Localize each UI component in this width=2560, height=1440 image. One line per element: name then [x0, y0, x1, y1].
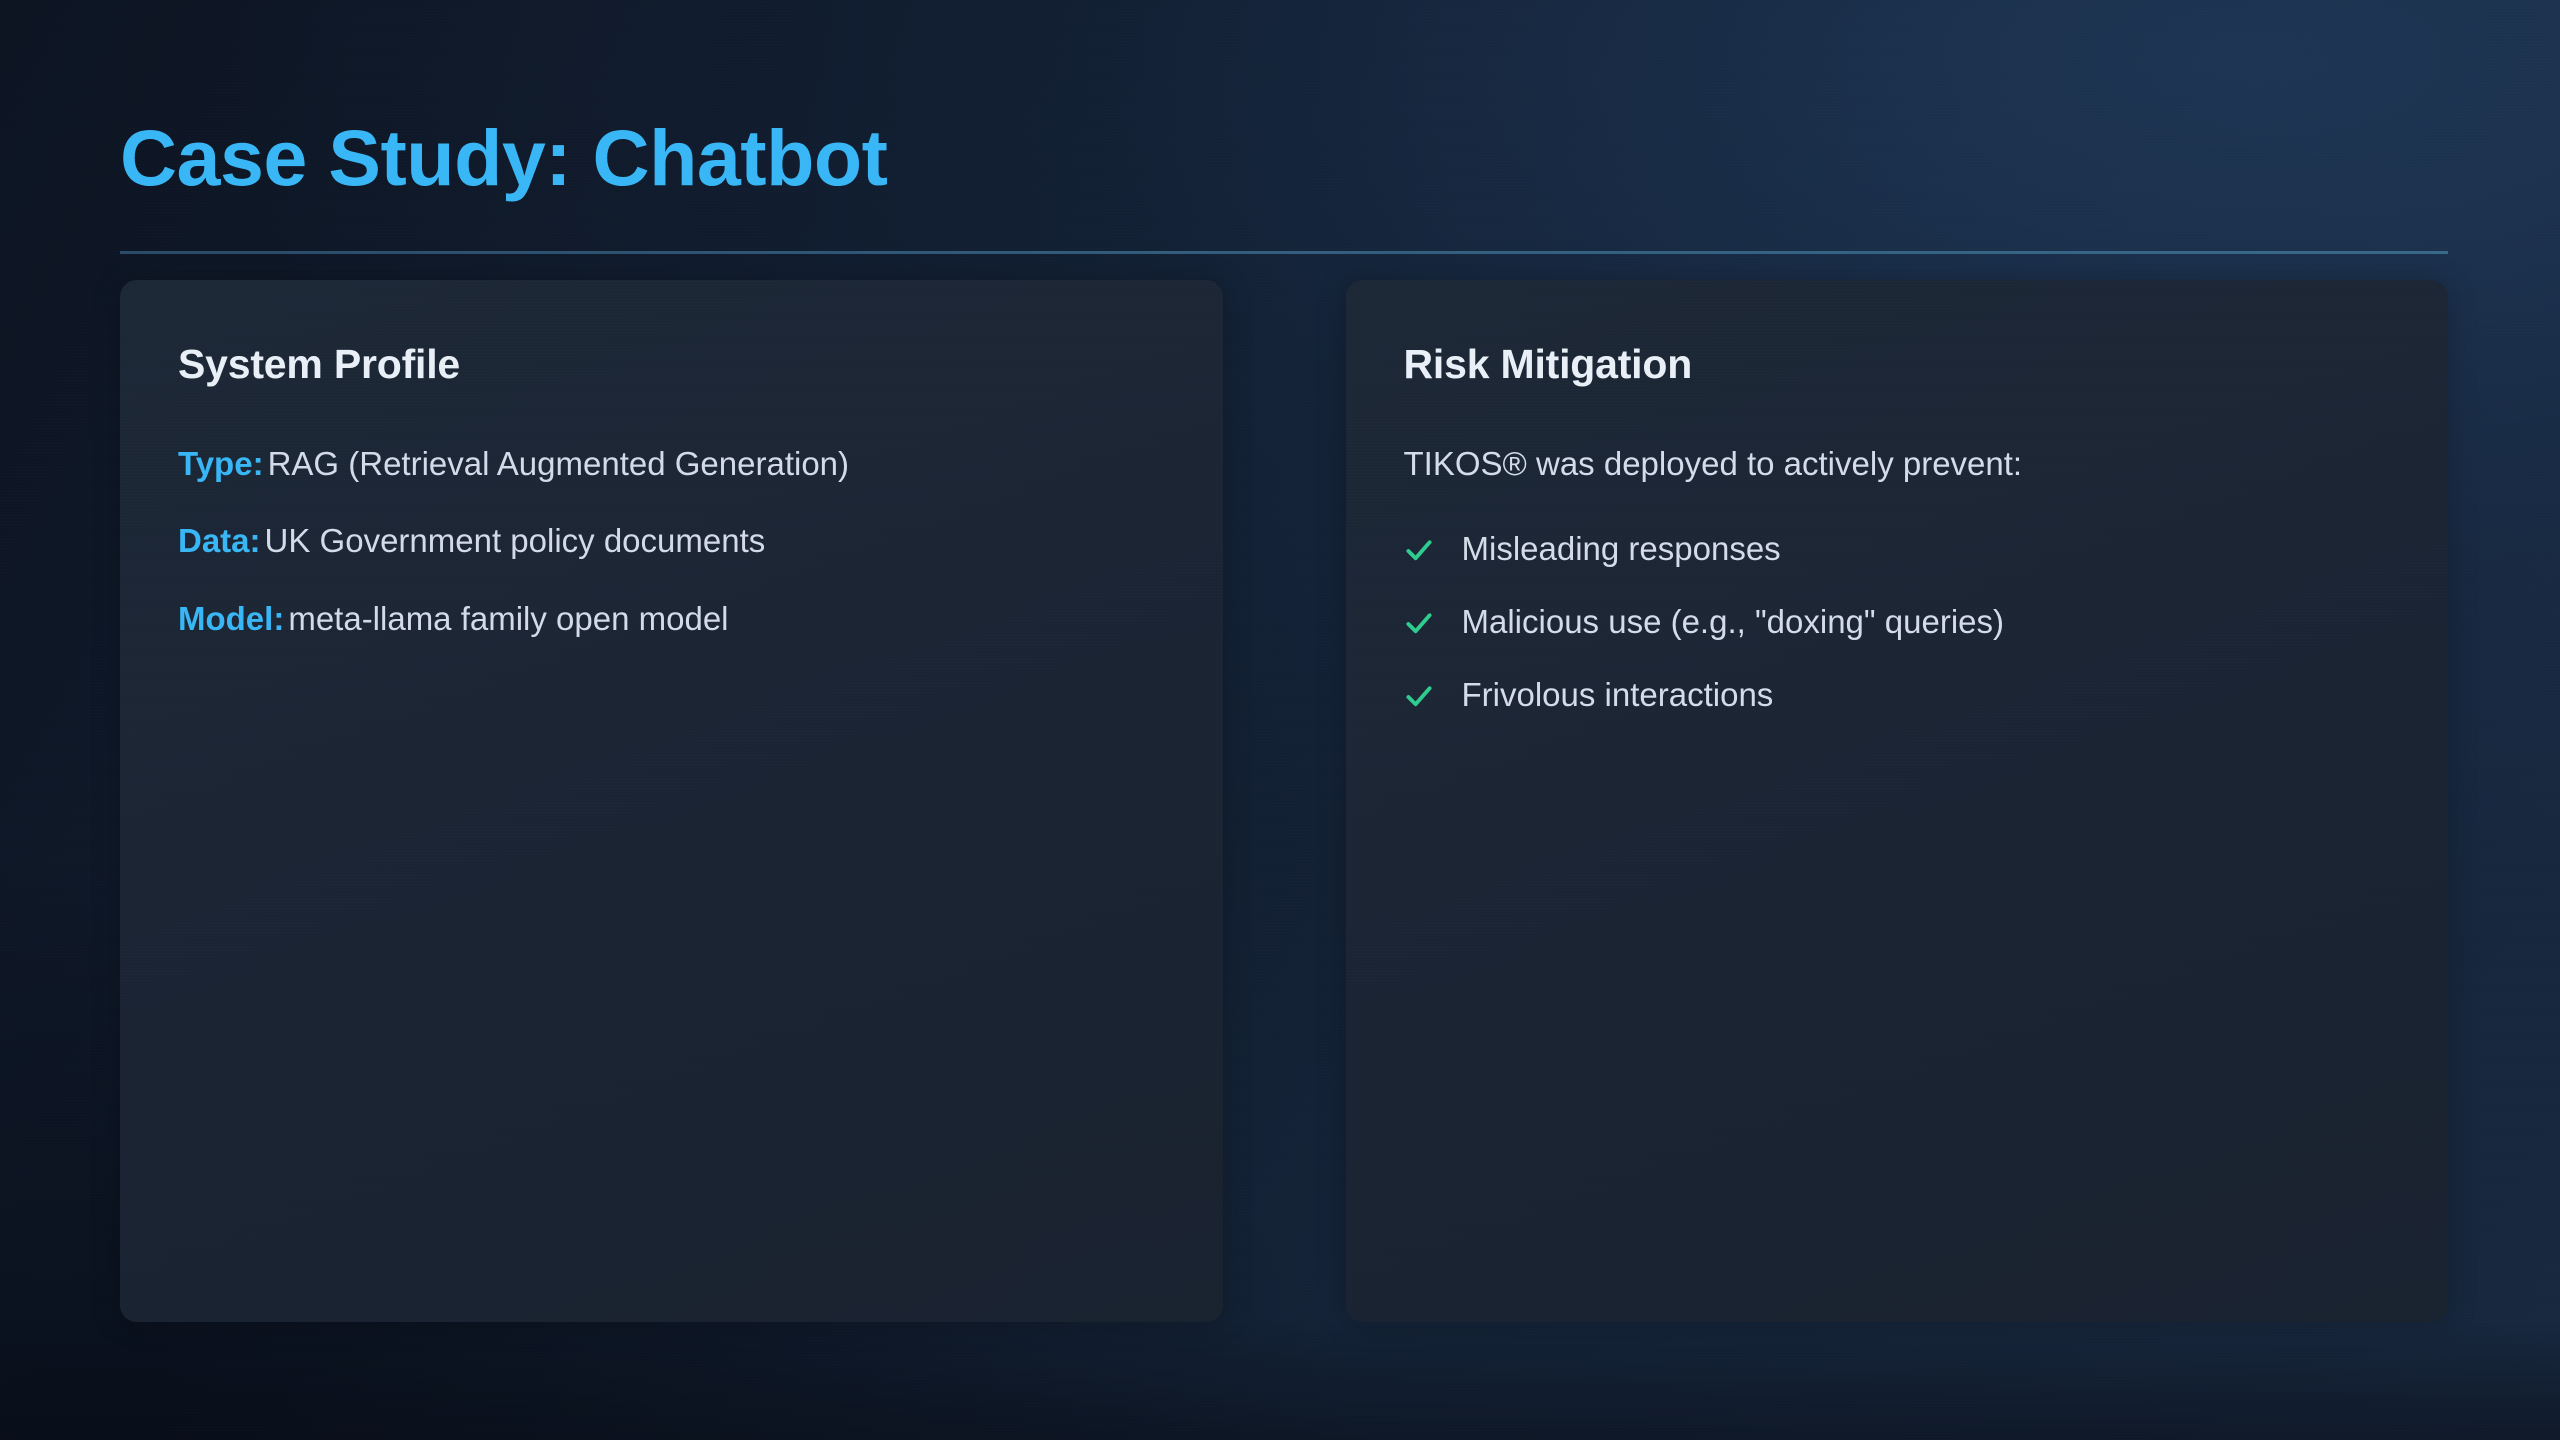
spec-value-model: meta-llama family open model [288, 600, 728, 637]
list-item-label: Malicious use (e.g., "doxing" queries) [1462, 601, 2005, 642]
spec-row-model: Model:meta-llama family open model [178, 598, 1165, 639]
page-title: Case Study: Chatbot [120, 118, 2448, 199]
spec-row-type: Type:RAG (Retrieval Augmented Generation… [178, 443, 1165, 484]
check-icon [1404, 608, 1434, 638]
spec-row-data: Data:UK Government policy documents [178, 520, 1165, 561]
risk-check-list: Misleading responses Malicious use (e.g.… [1404, 528, 2391, 716]
spec-label-data: Data: [178, 522, 261, 559]
risk-mitigation-card: Risk Mitigation TIKOS® was deployed to a… [1346, 280, 2449, 1322]
slide-header: Case Study: Chatbot [120, 118, 2448, 199]
title-divider [120, 251, 2448, 254]
list-item-label: Misleading responses [1462, 528, 1781, 569]
check-icon [1404, 681, 1434, 711]
bottom-vignette [0, 1320, 2560, 1440]
list-item: Misleading responses [1404, 528, 2391, 569]
system-profile-heading: System Profile [178, 342, 1165, 387]
list-item: Frivolous interactions [1404, 674, 2391, 715]
risk-intro-text: TIKOS® was deployed to actively prevent: [1404, 443, 2391, 486]
spec-value-data: UK Government policy documents [265, 522, 766, 559]
list-item: Malicious use (e.g., "doxing" queries) [1404, 601, 2391, 642]
slide-canvas: Case Study: Chatbot System Profile Type:… [0, 0, 2560, 1440]
check-icon [1404, 535, 1434, 565]
card-row: System Profile Type:RAG (Retrieval Augme… [120, 280, 2448, 1322]
spec-label-model: Model: [178, 600, 284, 637]
risk-mitigation-heading: Risk Mitigation [1404, 342, 2391, 387]
system-profile-card: System Profile Type:RAG (Retrieval Augme… [120, 280, 1223, 1322]
list-item-label: Frivolous interactions [1462, 674, 1774, 715]
spec-value-type: RAG (Retrieval Augmented Generation) [268, 445, 849, 482]
spec-label-type: Type: [178, 445, 264, 482]
